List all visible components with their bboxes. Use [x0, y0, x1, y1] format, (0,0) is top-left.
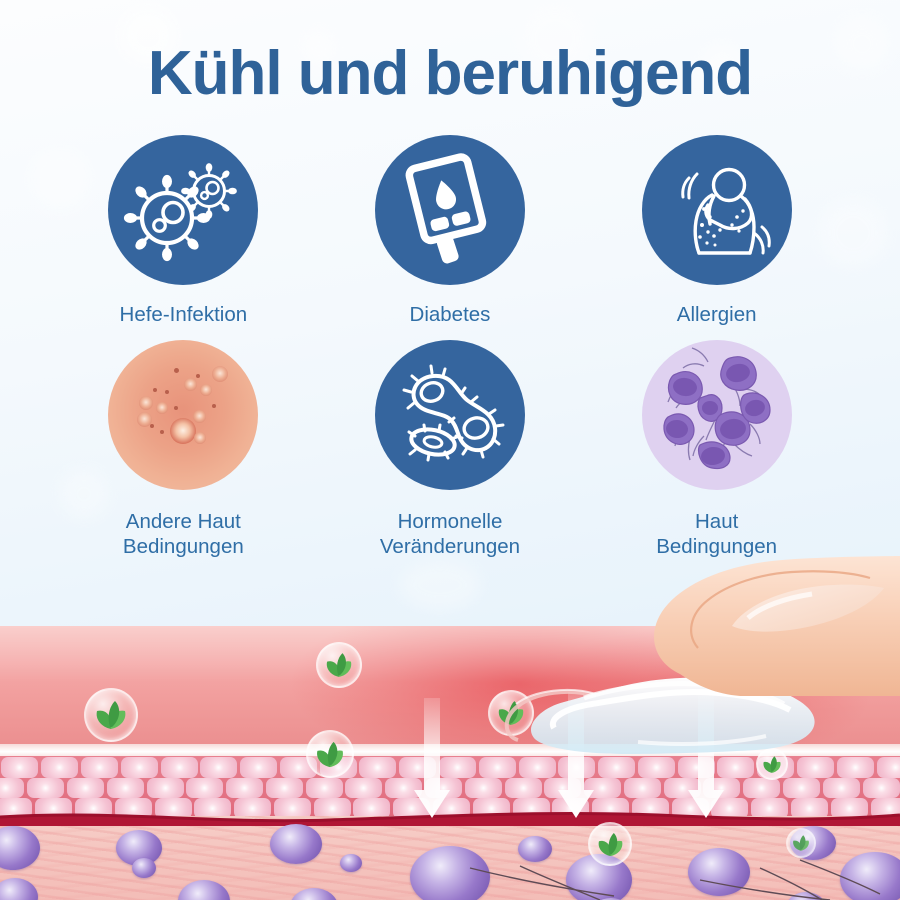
fingertip	[620, 556, 900, 696]
condition-label: Hefe-Infektion	[63, 302, 303, 327]
condition-label: Hormonelle Veränderungen	[330, 509, 570, 559]
mint-bubble	[84, 688, 138, 742]
condition-card-haut-bedingungen[interactable]: Haut Bedingungen	[597, 340, 837, 565]
condition-card-hormonelle-veraenderungen[interactable]: Hormonelle Veränderungen	[330, 340, 570, 565]
mint-bubble	[588, 822, 632, 866]
mint-bubble	[786, 828, 816, 858]
mint-leaf-icon	[91, 699, 131, 731]
condition-label: Andere Haut Bedingungen	[63, 509, 303, 559]
condition-card-andere-haut-bedingungen[interactable]: Andere Haut Bedingungen	[63, 340, 303, 565]
condition-card-allergien[interactable]: Allergien	[597, 135, 837, 340]
mint-bubble	[306, 730, 354, 778]
condition-label: Haut Bedingungen	[597, 509, 837, 559]
condition-label: Allergien	[597, 302, 837, 327]
bacteria-icon	[375, 340, 525, 490]
product-infographic-page: Kühl und beruhigend	[0, 0, 900, 900]
hair-follicle-strand-group	[0, 816, 900, 900]
person-scratching-icon	[642, 135, 792, 285]
penetration-arrow	[412, 698, 452, 822]
dendritic-cells-icon	[642, 340, 792, 490]
virus-cluster-icon	[108, 135, 258, 285]
conditions-grid: Hefe-Infektion	[50, 135, 850, 565]
condition-card-hefe-infektion[interactable]: Hefe-Infektion	[63, 135, 303, 340]
mint-bubble	[316, 642, 362, 688]
glucose-meter-icon	[375, 135, 525, 285]
condition-label: Diabetes	[330, 302, 570, 327]
page-title: Kühl und beruhigend	[0, 38, 900, 109]
condition-card-diabetes[interactable]: Diabetes	[330, 135, 570, 340]
acne-skin-icon	[108, 340, 258, 490]
